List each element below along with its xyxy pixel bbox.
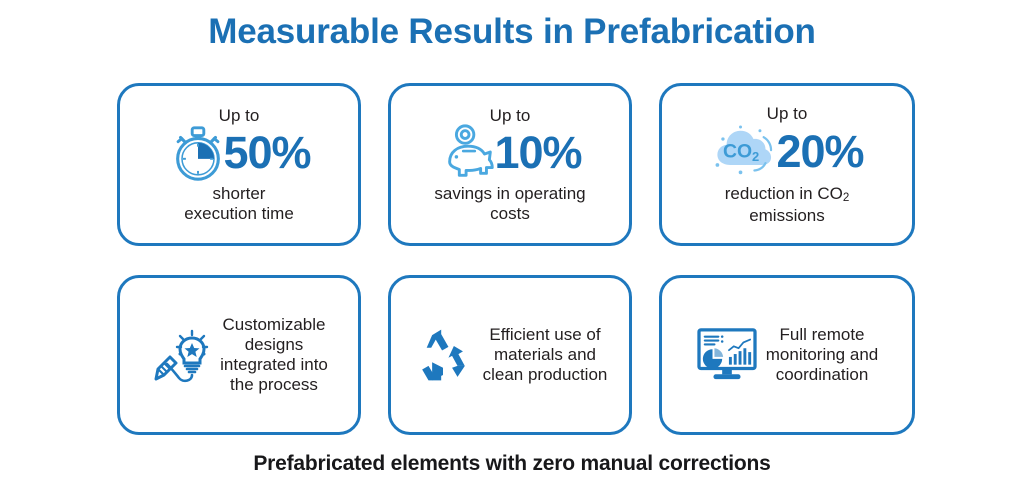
stat-caption-post: emissions (749, 206, 825, 225)
recycle-icon (413, 326, 473, 384)
feature-card-content: Full remote monitoring and coordination (662, 278, 912, 432)
stats-row: Up to (117, 83, 915, 246)
stopwatch-icon (167, 122, 229, 184)
stat-card-content: Up to 10% (391, 86, 629, 243)
footer-caption: Prefabricated elements with zero manual … (0, 452, 1024, 476)
stat-icon-value-row: 50% (167, 125, 310, 181)
feature-text: Efficient use of materials and clean pro… (483, 325, 608, 385)
feature-card-efficient-materials[interactable]: Efficient use of materials and clean pro… (388, 275, 632, 435)
feature-text: Full remote monitoring and coordination (766, 325, 878, 385)
stat-value: 20% (776, 129, 863, 175)
monitor-dashboard-icon (696, 327, 758, 383)
stat-caption-pre: reduction in CO (725, 184, 843, 203)
feature-card-content: Customizable designs integrated into the… (120, 278, 358, 432)
stat-value: 50% (223, 130, 310, 176)
lightbulb-pencil-icon (150, 323, 214, 387)
stat-caption-subscript: 2 (843, 192, 849, 204)
stat-card-shorter-execution-time[interactable]: Up to (117, 83, 361, 246)
stat-caption: shorter execution time (184, 184, 294, 224)
feature-card-content: Efficient use of materials and clean pro… (391, 278, 629, 432)
cards-grid: Up to (117, 83, 915, 435)
stat-caption: savings in operating costs (434, 184, 585, 224)
stat-value: 10% (494, 130, 581, 176)
co2-cloud-icon: CO2 (710, 121, 784, 183)
stat-card-operating-cost-savings[interactable]: Up to 10% (388, 83, 632, 246)
piggy-bank-icon (438, 122, 500, 184)
stat-card-content: Up to (120, 86, 358, 243)
stat-caption: reduction in CO2 emissions (725, 184, 850, 226)
stat-icon-value-row: 10% (438, 125, 581, 181)
stat-card-content: Up to (662, 86, 912, 243)
feature-card-customizable-designs[interactable]: Customizable designs integrated into the… (117, 275, 361, 435)
page-title: Measurable Results in Prefabrication (0, 8, 1024, 56)
stat-card-co2-reduction[interactable]: Up to (659, 83, 915, 246)
feature-text: Customizable designs integrated into the… (220, 315, 328, 395)
features-row: Customizable designs integrated into the… (117, 275, 915, 435)
stat-icon-value-row: CO2 20% (710, 123, 863, 181)
feature-card-remote-monitoring[interactable]: Full remote monitoring and coordination (659, 275, 915, 435)
infographic-page: Measurable Results in Prefabrication Up … (0, 0, 1024, 495)
